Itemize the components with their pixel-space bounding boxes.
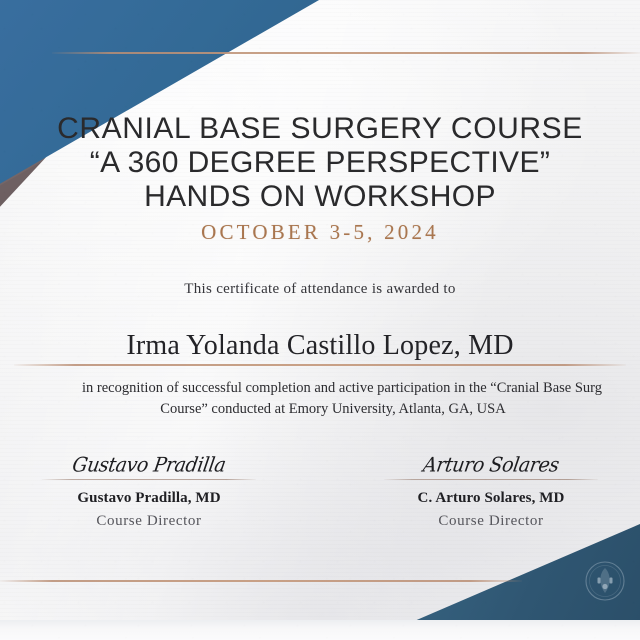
recipient-name: Irma Yolanda Castillo Lopez, MD	[0, 330, 640, 362]
signature-rule-pradilla	[42, 479, 256, 480]
course-date: OCTOBER 3-5, 2024	[0, 220, 640, 245]
signatory-role-solares: Course Director	[384, 513, 598, 530]
citation-text: in recognition of successful completion …	[26, 378, 640, 420]
course-title-line-2: “A 360 DEGREE PERSPECTIVE”	[0, 146, 640, 180]
signature-block-solares: Arturo Solares C. Arturo Solares, MD Cou…	[384, 452, 598, 530]
course-title: CRANIAL BASE SURGERY COURSE “A 360 DEGRE…	[0, 112, 640, 214]
signature-block-pradilla: Gustavo Pradilla Gustavo Pradilla, MD Co…	[42, 452, 256, 530]
signature-rule-solares	[384, 479, 598, 480]
signatory-name-pradilla: Gustavo Pradilla, MD	[42, 490, 256, 507]
citation-line-1: in recognition of successful completion …	[44, 378, 640, 399]
awarded-to-label: This certificate of attendance is awarde…	[0, 281, 640, 298]
signatory-role-pradilla: Course Director	[42, 513, 256, 530]
certificate-document: CRANIAL BASE SURGERY COURSE “A 360 DEGRE…	[0, 0, 640, 640]
signature-row: Gustavo Pradilla Gustavo Pradilla, MD Co…	[0, 452, 640, 530]
citation-line-2: Course” conducted at Emory University, A…	[26, 399, 640, 420]
signatory-name-solares: C. Arturo Solares, MD	[384, 490, 598, 507]
signature-script-pradilla: Gustavo Pradilla	[40, 451, 258, 479]
course-title-line-3: HANDS ON WORKSHOP	[0, 180, 640, 214]
course-title-line-1: CRANIAL BASE SURGERY COURSE	[0, 112, 640, 146]
signature-script-solares: Arturo Solares	[382, 451, 600, 479]
